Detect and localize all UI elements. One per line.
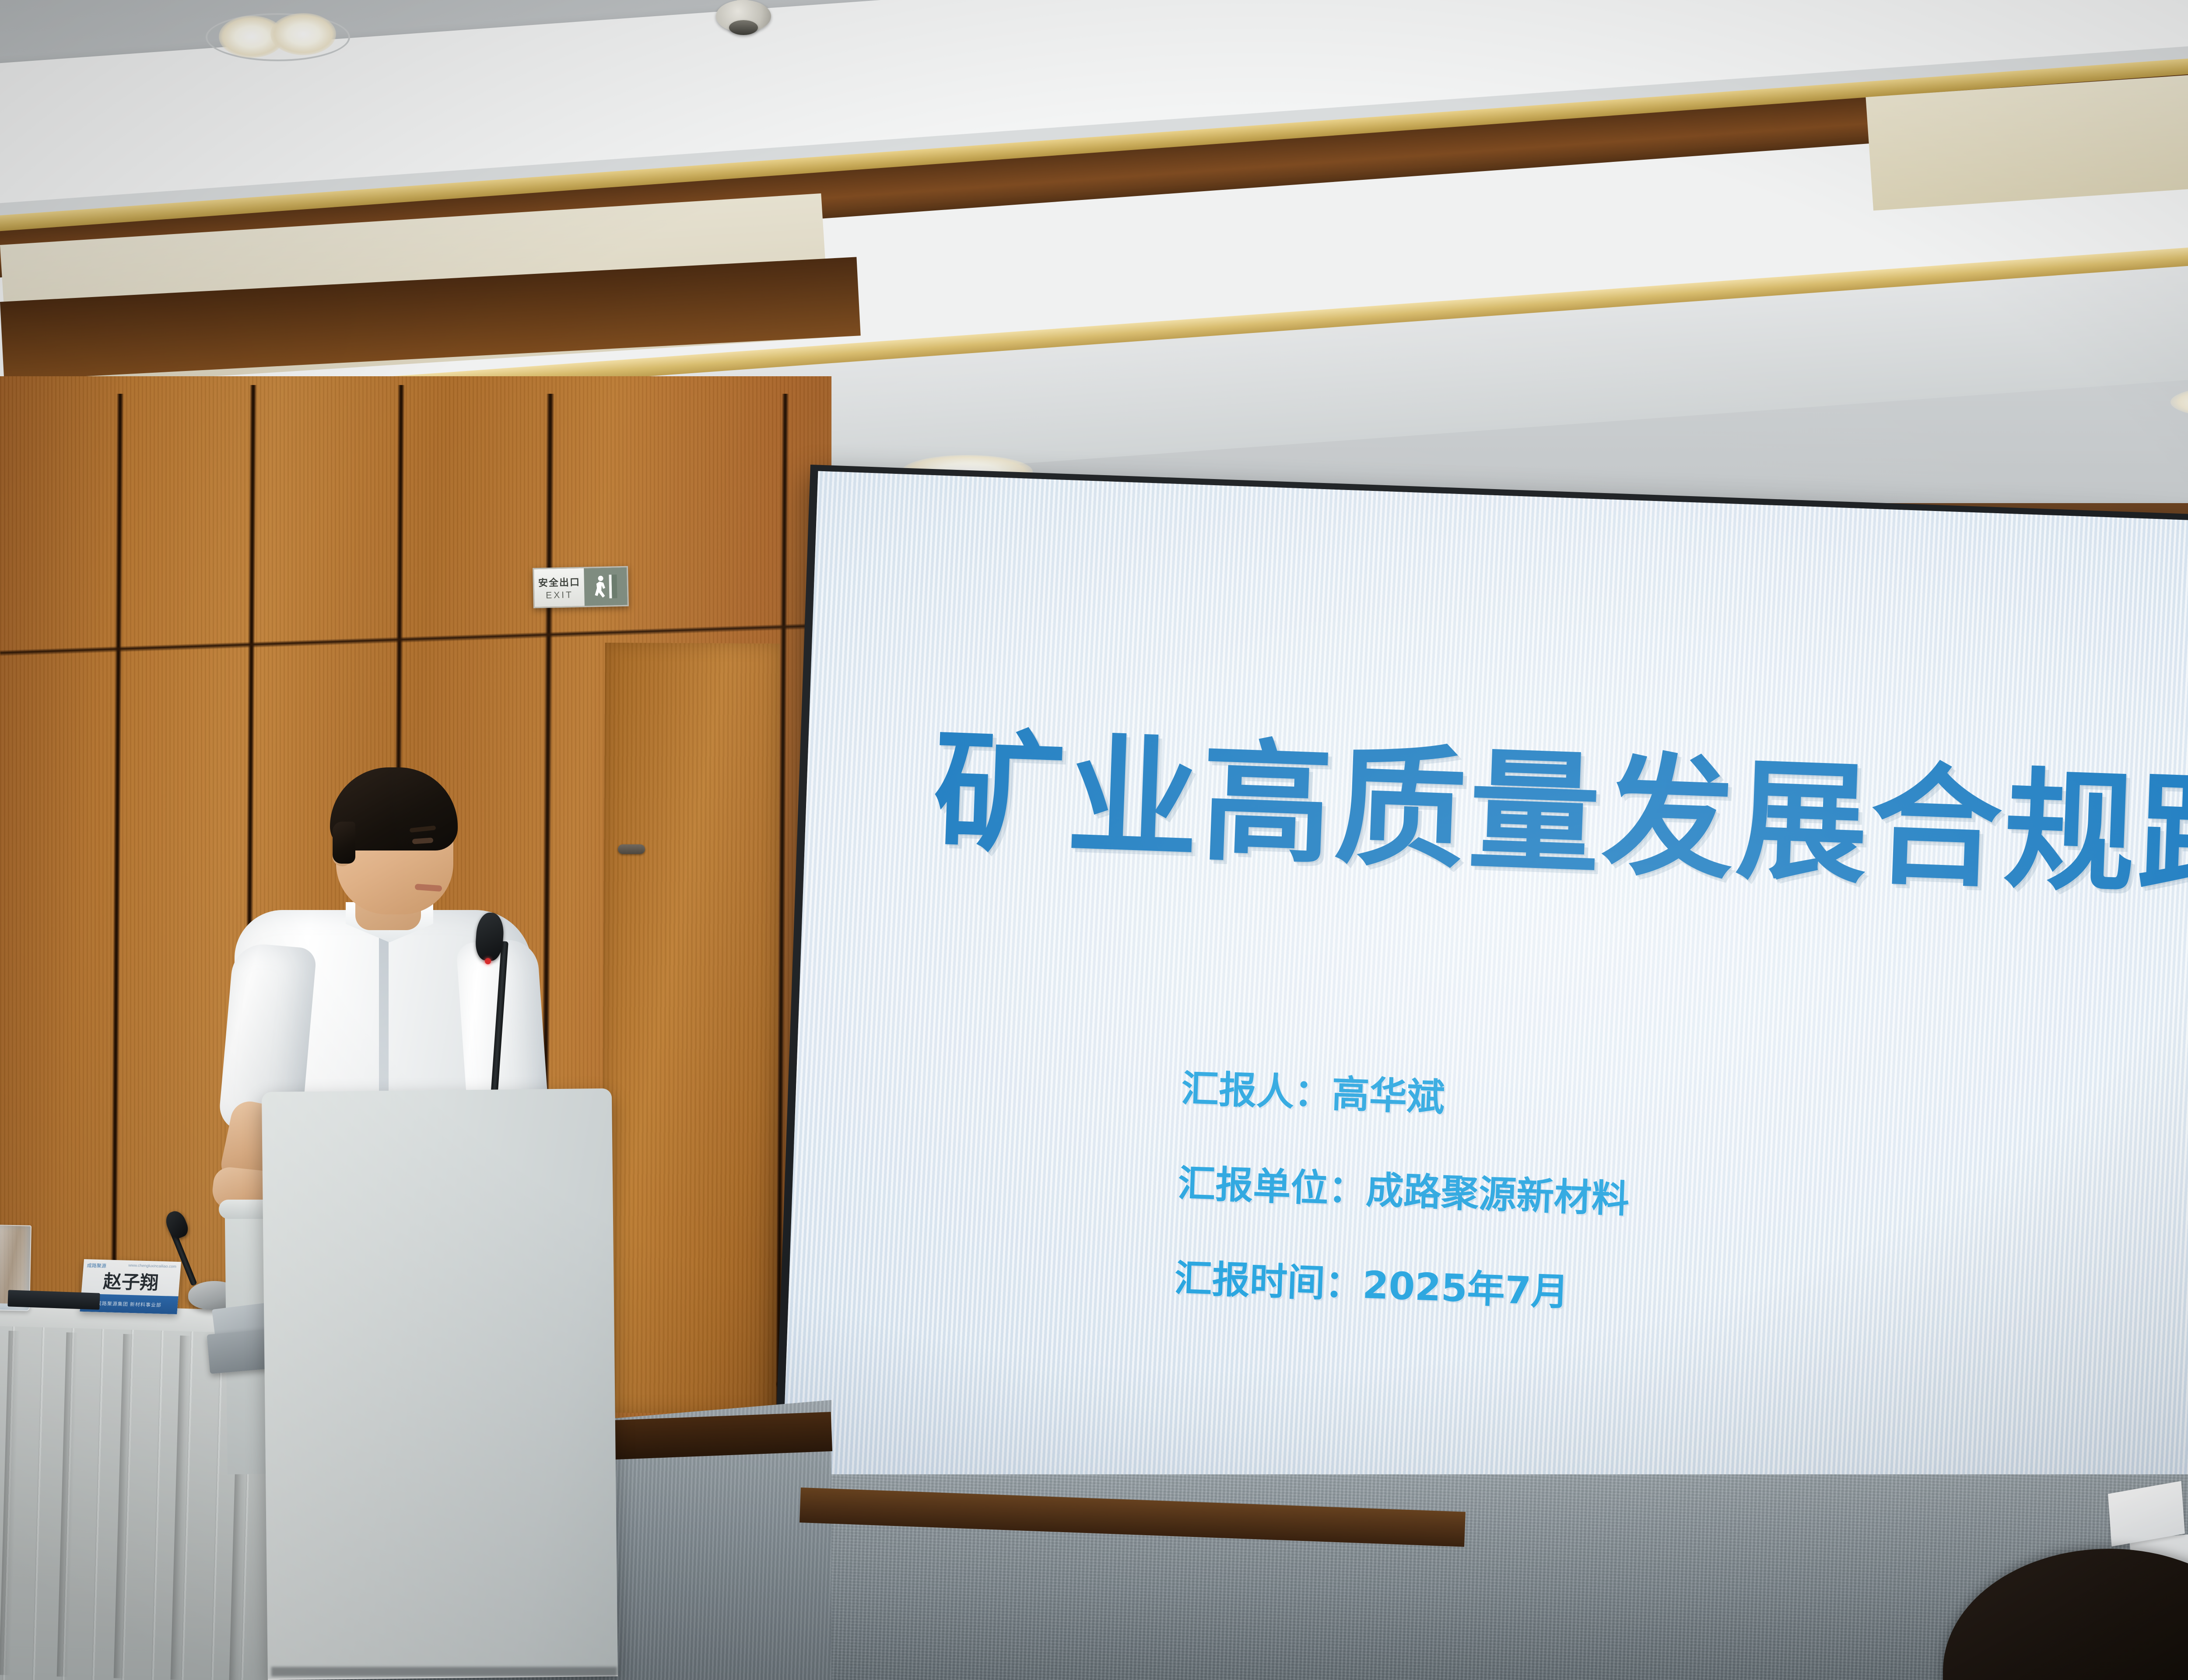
speaker-hair-sideburn (333, 822, 355, 864)
meeting-room-door[interactable] (601, 643, 780, 1414)
podium-microphone-indicator-led (485, 958, 491, 964)
projection-screen-surface: 矿业高质量发展合规路径 汇报人：高华斌 汇报单位：成路聚源新材料 汇报时间：20… (781, 471, 2188, 1579)
emergency-exit-sign: 安全出口 EXIT (533, 566, 629, 609)
conference-room-photo: 安全出口 EXIT 矿业高质量发展合规路径 汇报人：高华斌 汇报单位：成路聚源新… (0, 0, 2188, 1680)
slide-meta-organization: 汇报单位：成路聚源新材料 (1177, 1152, 1630, 1223)
exit-sign-label-en: EXIT (546, 590, 573, 601)
document-folder (7, 1290, 100, 1309)
smoke-detector-sensor-icon (729, 20, 758, 35)
downlight-2 (270, 13, 336, 55)
table-skirt-pleat (0, 1331, 20, 1676)
name-card-face: 成路聚源 www.chengluxincailiao.com 赵子翔 (81, 1259, 181, 1296)
door-handle[interactable] (618, 844, 645, 854)
table-skirt-pleat (114, 1334, 135, 1679)
exit-sign-text-block: 安全出口 EXIT (534, 574, 585, 601)
name-card-name: 赵子翔 (102, 1267, 160, 1295)
table-skirt-pleat (171, 1336, 192, 1680)
screen-vignette (781, 471, 2188, 1579)
podium-shadow (271, 1667, 617, 1676)
name-card-logo: 成路聚源 (87, 1262, 106, 1269)
projection-screen: 矿业高质量发展合规路径 汇报人：高华斌 汇报单位：成路聚源新材料 汇报时间：20… (772, 465, 2188, 1589)
running-man-exit-icon (584, 567, 628, 606)
exit-sign-label-cn: 安全出口 (538, 574, 581, 589)
podium-lectern (262, 1088, 618, 1680)
table-skirt-pleat (57, 1332, 78, 1677)
slide-meta-block: 汇报人：高华斌 汇报单位：成路聚源新材料 汇报时间：2025年7月 (1174, 1057, 1634, 1318)
